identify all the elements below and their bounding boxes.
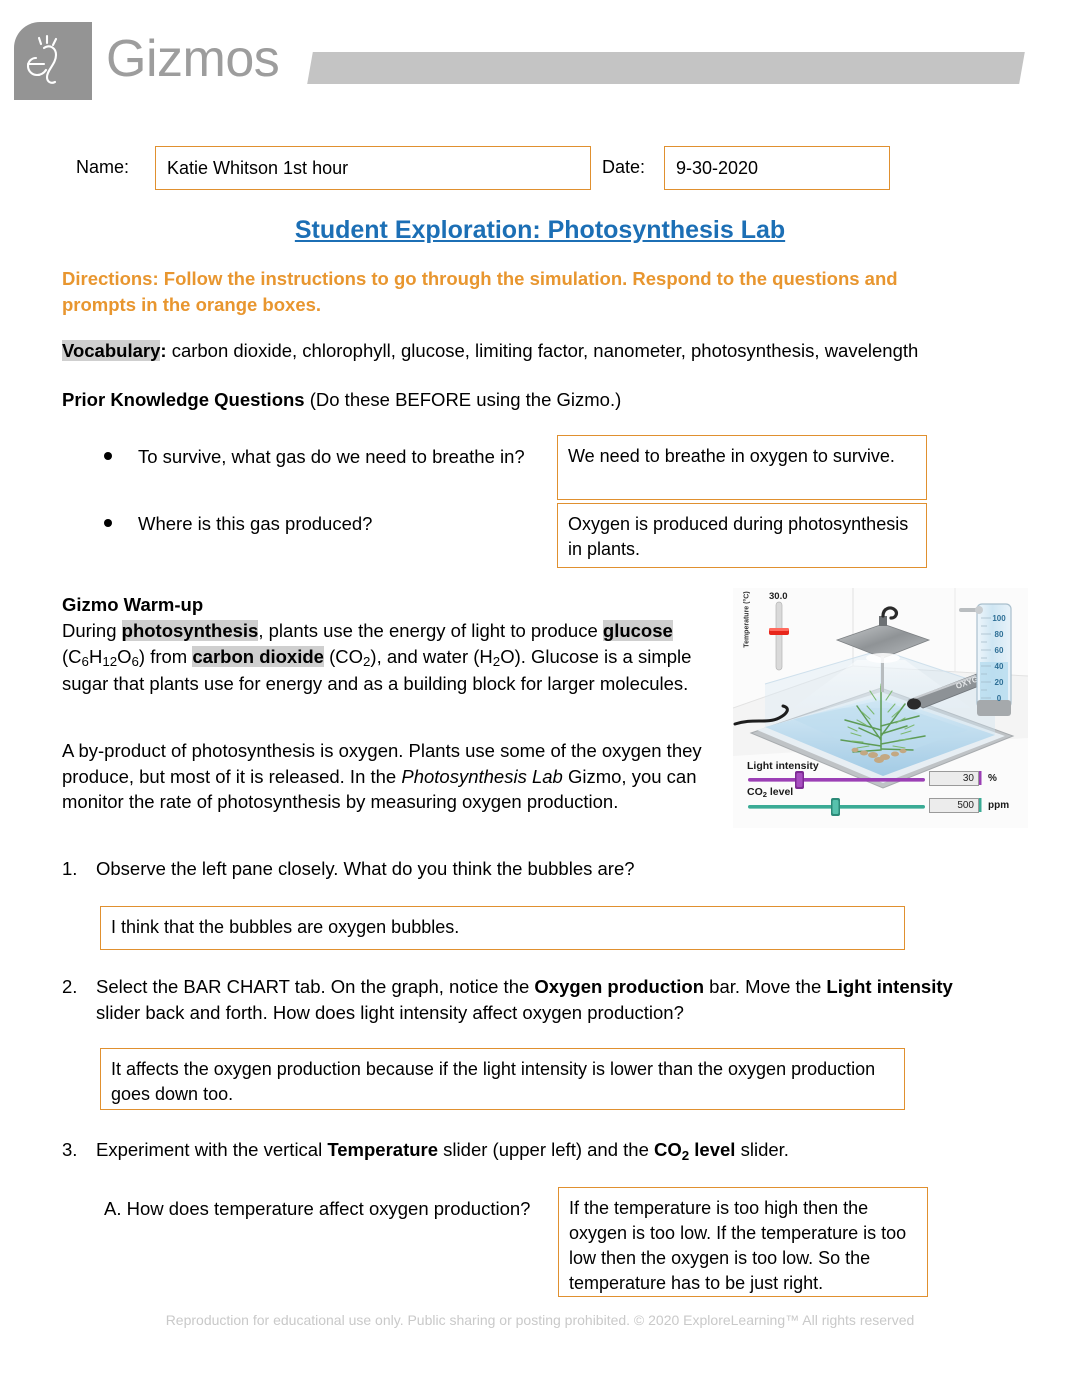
q3-c: slider (upper left) and the xyxy=(438,1139,654,1160)
wp1-g: H xyxy=(89,646,102,667)
question-2-number: 2. xyxy=(62,974,77,1000)
question-3-number: 3. xyxy=(62,1137,77,1163)
question-1-number: 1. xyxy=(62,856,77,882)
wp1-h: 12 xyxy=(102,654,117,669)
el-monogram-icon xyxy=(14,22,92,100)
cylinder-tick-80: 80 xyxy=(995,630,1004,639)
q2-e: slider back and forth. How does light in… xyxy=(96,1002,684,1023)
light-intensity-label: Light intensity xyxy=(747,760,819,772)
date-input-value: 9-30-2020 xyxy=(676,158,758,179)
q3-temperature: Temperature xyxy=(327,1139,438,1160)
wp1-i: O xyxy=(117,646,131,667)
wp1-a: During xyxy=(62,620,122,641)
co2-label-b: level xyxy=(767,786,793,798)
q3-co2-sub: 2 xyxy=(682,1148,689,1163)
wp1-m: (CO xyxy=(324,646,363,667)
name-input-value: Katie Whitson 1st hour xyxy=(167,158,348,179)
name-input[interactable]: Katie Whitson 1st hour xyxy=(155,146,591,190)
gizmos-logo-tile xyxy=(14,22,92,100)
cylinder-tick-20: 20 xyxy=(995,678,1004,687)
wp1-k: ) from xyxy=(139,646,192,667)
pk-answer-box-2[interactable]: Oxygen is produced during photosynthesis… xyxy=(557,503,927,568)
wp1-e: (C xyxy=(62,646,82,667)
pk-question-2: Where is this gas produced? xyxy=(138,511,558,537)
vocabulary-line: Vocabulary: carbon dioxide, chlorophyll,… xyxy=(62,338,1022,364)
gizmo-simulation-image: OXYGEN 100 80 xyxy=(733,588,1028,828)
question-3-text: Experiment with the vertical Temperature… xyxy=(96,1137,996,1165)
wp1-j: 6 xyxy=(132,654,139,669)
co2-level-label: CO2 level xyxy=(747,786,793,798)
prior-knowledge-subheading: (Do these BEFORE using the Gizmo.) xyxy=(305,389,622,410)
question-3a-answer-box[interactable]: If the temperature is too high then the … xyxy=(558,1187,928,1297)
wp1-photosynthesis: photosynthesis xyxy=(122,620,259,641)
temperature-value: 30.0 xyxy=(769,591,788,602)
header-accent-bar xyxy=(307,52,1025,84)
bullet-icon xyxy=(104,452,112,460)
cylinder-tick-100: 100 xyxy=(992,614,1006,623)
vocabulary-terms: carbon dioxide, chlorophyll, glucose, li… xyxy=(172,340,919,361)
co2-level-readout[interactable]: 500 xyxy=(929,798,979,813)
co2-label-a: CO xyxy=(747,786,763,798)
vocabulary-label: Vocabulary xyxy=(62,340,160,361)
footer-copyright: Reproduction for educational use only. P… xyxy=(0,1312,1080,1328)
wp1-carbon-dioxide: carbon dioxide xyxy=(192,646,324,667)
q2-c: bar. Move the xyxy=(704,976,826,997)
bullet-icon xyxy=(104,519,112,527)
name-label: Name: xyxy=(76,157,129,178)
question-1-text: Observe the left pane closely. What do y… xyxy=(96,856,976,882)
wp1-o: ), and water (H xyxy=(370,646,492,667)
co2-level-unit: ppm xyxy=(988,800,1009,811)
wp1-p: 2 xyxy=(493,654,500,669)
light-intensity-readout[interactable]: 30 xyxy=(929,771,979,786)
q3-f: slider. xyxy=(735,1139,788,1160)
page-title[interactable]: Student Exploration: Photosynthesis Lab xyxy=(0,216,1080,245)
question-3a-answer-text: If the temperature is too high then the … xyxy=(569,1196,919,1296)
temperature-label: Temperature (°C) xyxy=(744,590,751,650)
q2-oxygen-production: Oxygen production xyxy=(534,976,704,997)
q3-a: Experiment with the vertical xyxy=(96,1139,327,1160)
prior-knowledge-heading: Prior Knowledge Questions xyxy=(62,389,305,410)
q3-co2: CO2 level xyxy=(654,1139,735,1160)
cylinder-tick-60: 60 xyxy=(995,646,1004,655)
prior-knowledge-heading-line: Prior Knowledge Questions (Do these BEFO… xyxy=(62,387,962,413)
pk-answer-box-1[interactable]: We need to breathe in oxygen to survive. xyxy=(557,435,927,500)
vocabulary-separator: : xyxy=(160,340,171,361)
co2-label-sub: 2 xyxy=(763,790,767,799)
wp2-gizmo-name: Photosynthesis Lab xyxy=(401,766,562,787)
pk-answer-1-text: We need to breathe in oxygen to survive. xyxy=(568,444,918,469)
question-1-answer-text: I think that the bubbles are oxygen bubb… xyxy=(111,915,896,940)
wp1-c: , plants use the energy of light to prod… xyxy=(258,620,603,641)
light-intensity-unit: % xyxy=(988,773,997,784)
directions-text: Directions: Follow the instructions to g… xyxy=(62,266,962,318)
wp1-glucose: glucose xyxy=(603,620,673,641)
question-2-text: Select the BAR CHART tab. On the graph, … xyxy=(96,974,996,1026)
wp1-n: 2 xyxy=(363,654,370,669)
pk-answer-2-text: Oxygen is produced during photosynthesis… xyxy=(568,512,918,562)
question-3a-text: A. How does temperature affect oxygen pr… xyxy=(104,1196,554,1222)
q3-co2-level: level xyxy=(689,1139,735,1160)
name-date-row: Name: Katie Whitson 1st hour Date: 9-30-… xyxy=(0,146,1080,190)
wp1-f: 6 xyxy=(82,654,89,669)
warmup-heading: Gizmo Warm-up xyxy=(62,594,203,616)
question-1-answer-box[interactable]: I think that the bubbles are oxygen bubb… xyxy=(100,906,905,950)
warmup-paragraph-1: During photosynthesis, plants use the en… xyxy=(62,618,712,697)
date-input[interactable]: 9-30-2020 xyxy=(664,146,890,190)
date-label: Date: xyxy=(602,157,645,178)
q2-a: Select the BAR CHART tab. On the graph, … xyxy=(96,976,534,997)
cylinder-tick-40: 40 xyxy=(995,662,1004,671)
question-2-answer-text: It affects the oxygen production because… xyxy=(111,1057,896,1107)
q3-co2-a: CO xyxy=(654,1139,682,1160)
question-2-answer-box[interactable]: It affects the oxygen production because… xyxy=(100,1048,905,1110)
pk-question-1: To survive, what gas do we need to breat… xyxy=(138,444,558,470)
page-header: Gizmos xyxy=(0,0,1080,110)
warmup-paragraph-2: A by-product of photosynthesis is oxygen… xyxy=(62,738,712,815)
q2-light-intensity: Light intensity xyxy=(826,976,952,997)
brand-name: Gizmos xyxy=(106,28,279,90)
cylinder-tick-0: 0 xyxy=(997,694,1002,703)
